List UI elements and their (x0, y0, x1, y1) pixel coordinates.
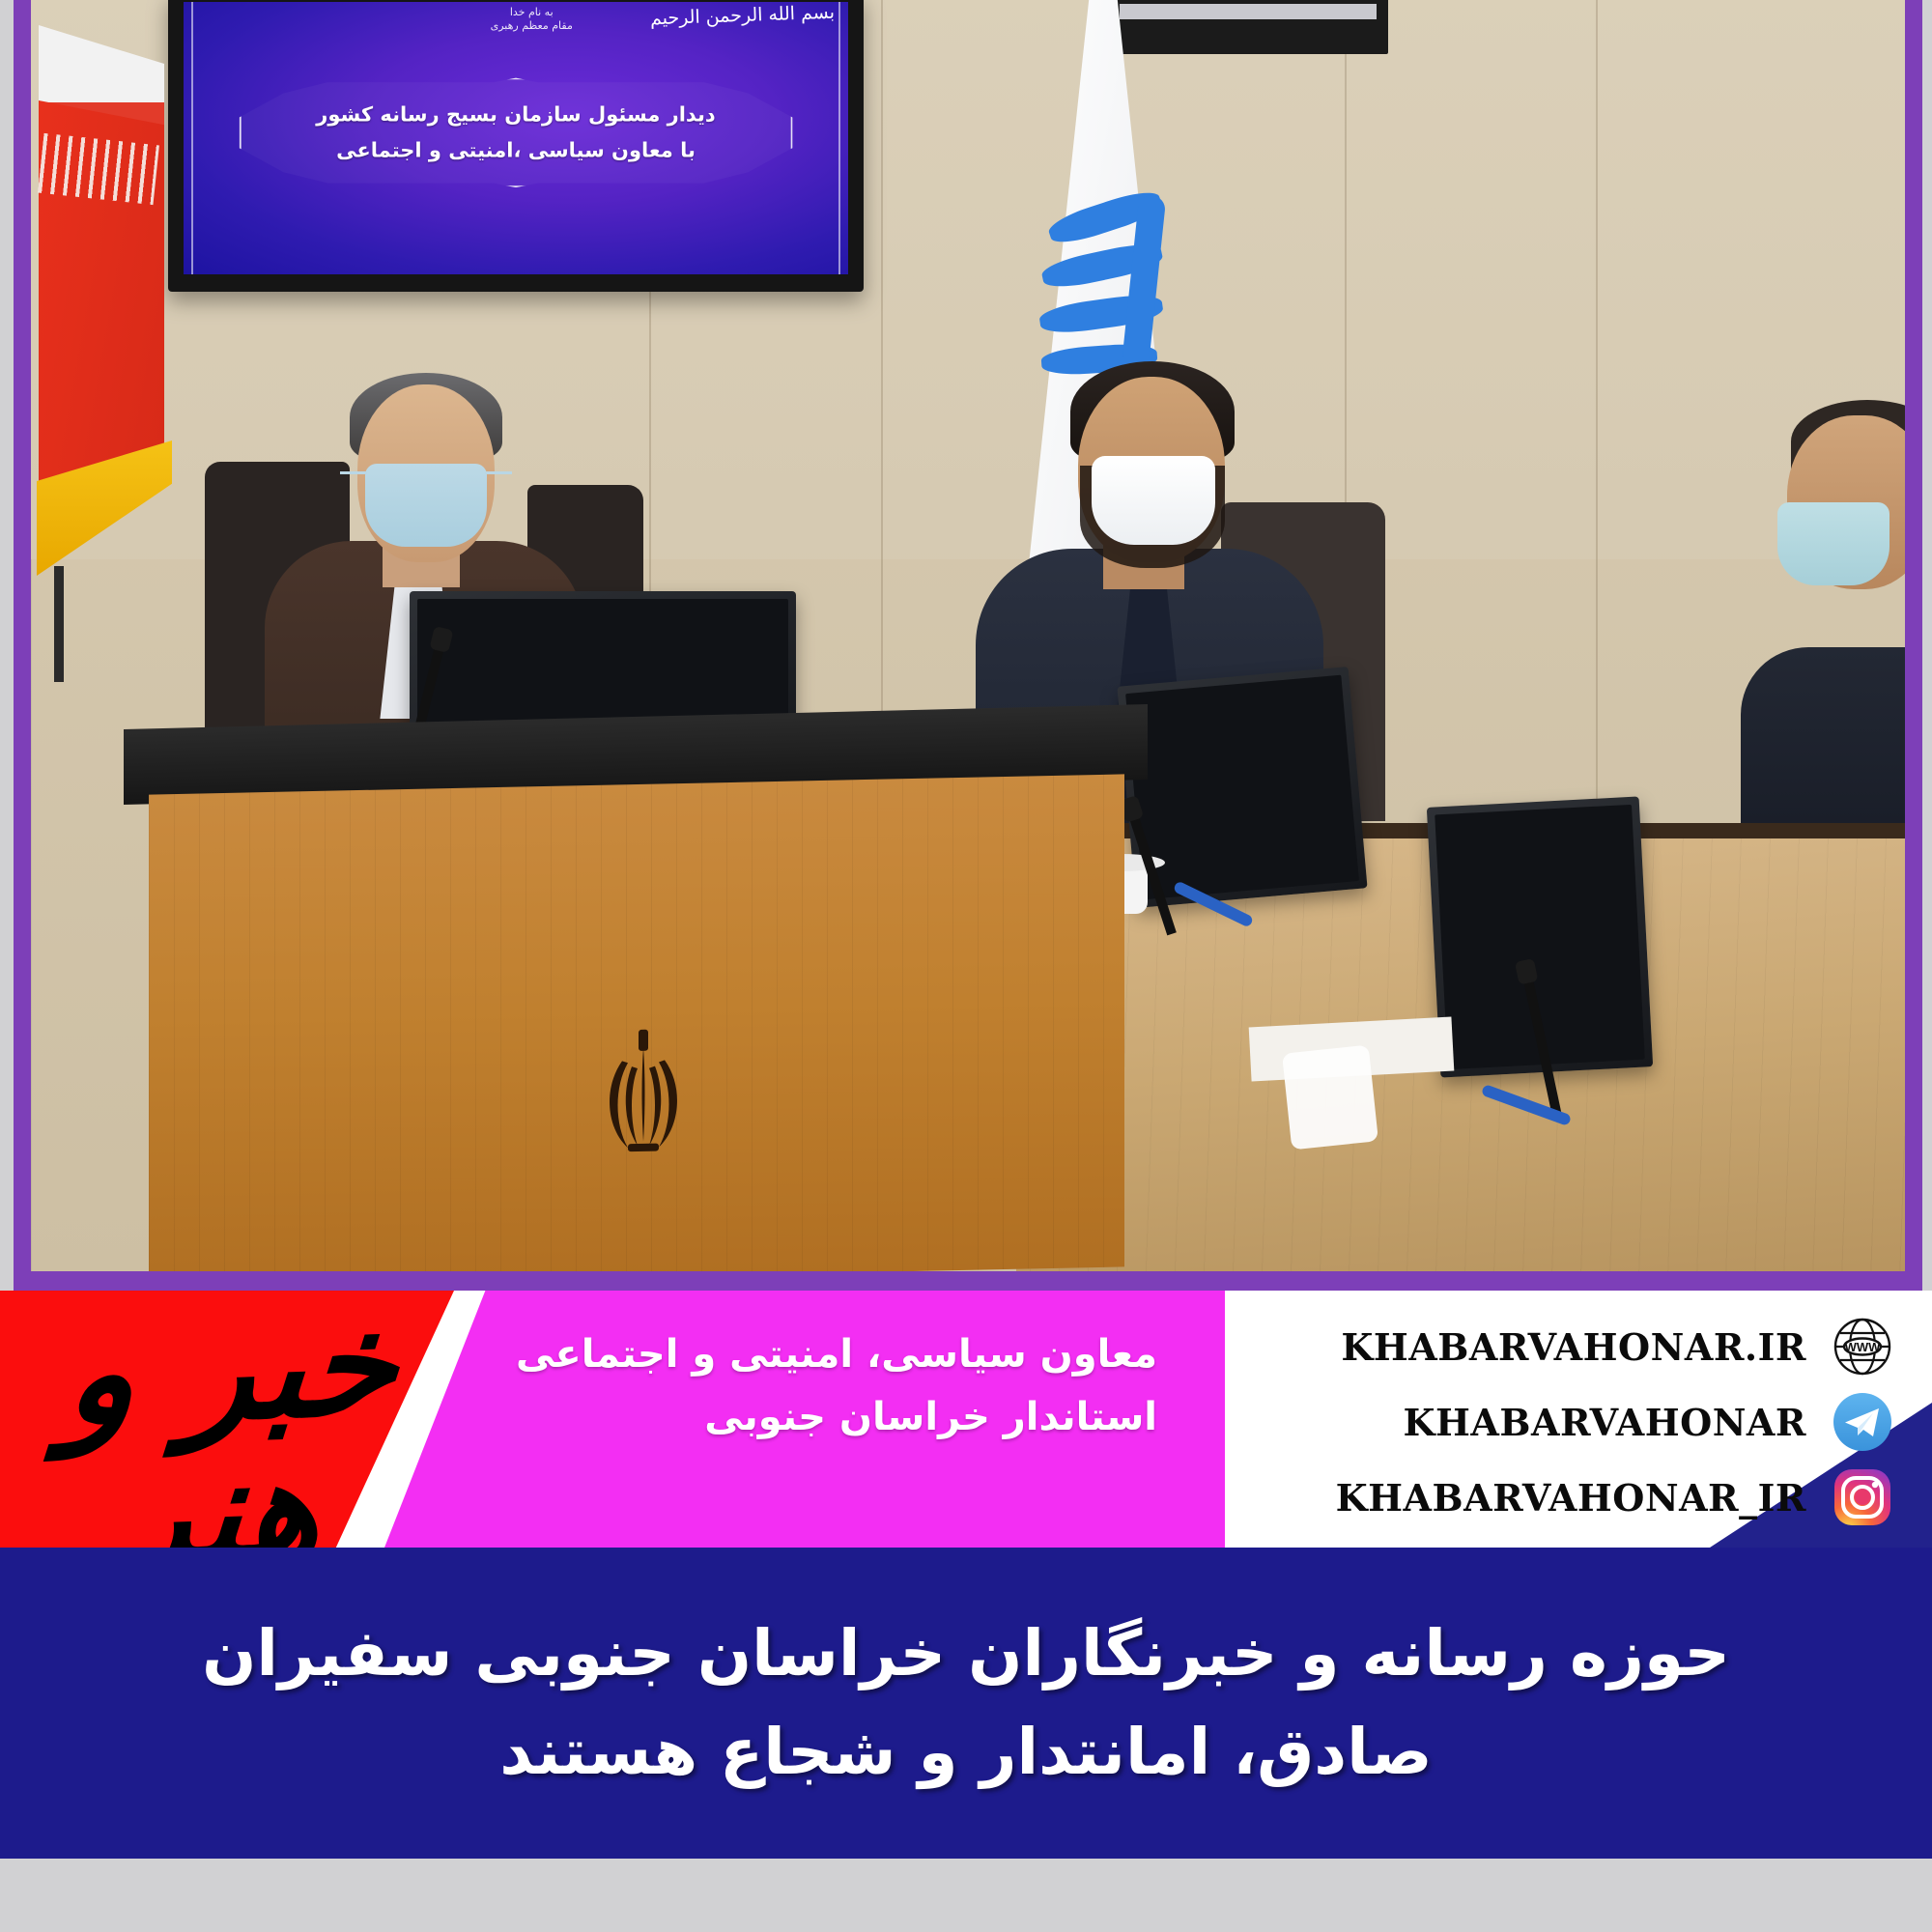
flag-pole (54, 566, 64, 682)
photo-frame: به نام خدا مقام معظم رهبری بسم الله الرح… (14, 0, 1922, 1291)
slide-title-line2: با معاون سیاسی ،امنیتی و اجتماعی (257, 132, 776, 168)
subtitle-lines: معاون سیاسی، امنیتی و اجتماعی استاندار خ… (481, 1323, 1157, 1449)
slide-bismillah: بسم الله الرحمن الرحیم (650, 3, 836, 30)
slide-title-cartouche: دیدار مسئول سازمان بسیج رسانه کشور با مع… (240, 78, 793, 188)
iran-flag (39, 25, 184, 624)
headline-line-1: حوزه رسانه و خبرنگاران خراسان جنوبی سفیر… (202, 1605, 1730, 1703)
person-far-right (1770, 406, 1905, 860)
headline-band: حوزه رسانه و خبرنگاران خراسان جنوبی سفیر… (0, 1548, 1932, 1859)
headline-line-2: صادق، امانتدار و شجاع هستند (202, 1703, 1730, 1802)
podium-face (149, 774, 1124, 1271)
slide-subheader: به نام خدا مقام معظم رهبری (491, 6, 573, 33)
flag-kufic-script (38, 133, 159, 205)
presentation-screen: به نام خدا مقام معظم رهبری بسم الله الرح… (168, 0, 864, 292)
footer-strip (0, 1859, 1932, 1932)
instagram-icon[interactable] (1832, 1466, 1893, 1528)
svg-text:WWW: WWW (1845, 1340, 1882, 1354)
brand-band: معاون سیاسی، امنیتی و اجتماعی استاندار خ… (0, 1291, 1932, 1548)
social-row-telegram[interactable]: KHABARVAHONAR (1101, 1387, 1893, 1457)
face-mask (1092, 456, 1215, 545)
tissue-box (1282, 1045, 1378, 1151)
slide-subheader-line1: به نام خدا (491, 6, 573, 19)
social-row-instagram[interactable]: KHABARVAHONAR_IR (1101, 1463, 1893, 1532)
wooden-podium (124, 717, 1148, 1271)
screen-slide: به نام خدا مقام معظم رهبری بسم الله الرح… (184, 2, 848, 274)
slide-title-line1: دیدار مسئول سازمان بسیج رسانه کشور (257, 98, 776, 133)
news-poster: به نام خدا مقام معظم رهبری بسم الله الرح… (0, 0, 1932, 1932)
instagram-label: KHABARVAHONAR_IR (1336, 1476, 1806, 1520)
brand-logo-text: خبر و هنر (0, 1291, 465, 1548)
social-links: KHABARVAHONAR.IR WWW KHABARVAHONAR (1101, 1312, 1893, 1532)
brand-logo-panel[interactable]: خبر و هنر (0, 1291, 454, 1548)
face-mask (1777, 502, 1889, 585)
meeting-photo: به نام خدا مقام معظم رهبری بسم الله الرح… (31, 0, 1905, 1271)
face-mask (365, 464, 487, 547)
website-label: KHABARVAHONAR.IR (1341, 1325, 1806, 1369)
slide-header: به نام خدا مقام معظم رهبری بسم الله الرح… (197, 6, 835, 33)
globe-www-icon[interactable]: WWW (1832, 1316, 1893, 1378)
telegram-label: KHABARVAHONAR (1403, 1401, 1806, 1444)
slide-subheader-line2: مقام معظم رهبری (491, 19, 573, 33)
iran-emblem-icon (585, 1027, 701, 1168)
subtitle-line-2: استاندار خراسان جنوبی (481, 1386, 1157, 1449)
social-row-website[interactable]: KHABARVAHONAR.IR WWW (1101, 1312, 1893, 1381)
subtitle-panel: معاون سیاسی، امنیتی و اجتماعی استاندار خ… (384, 1291, 1225, 1548)
headline-text: حوزه رسانه و خبرنگاران خراسان جنوبی سفیر… (202, 1605, 1730, 1803)
telegram-icon[interactable] (1832, 1391, 1893, 1453)
subtitle-line-1: معاون سیاسی، امنیتی و اجتماعی (481, 1323, 1157, 1386)
